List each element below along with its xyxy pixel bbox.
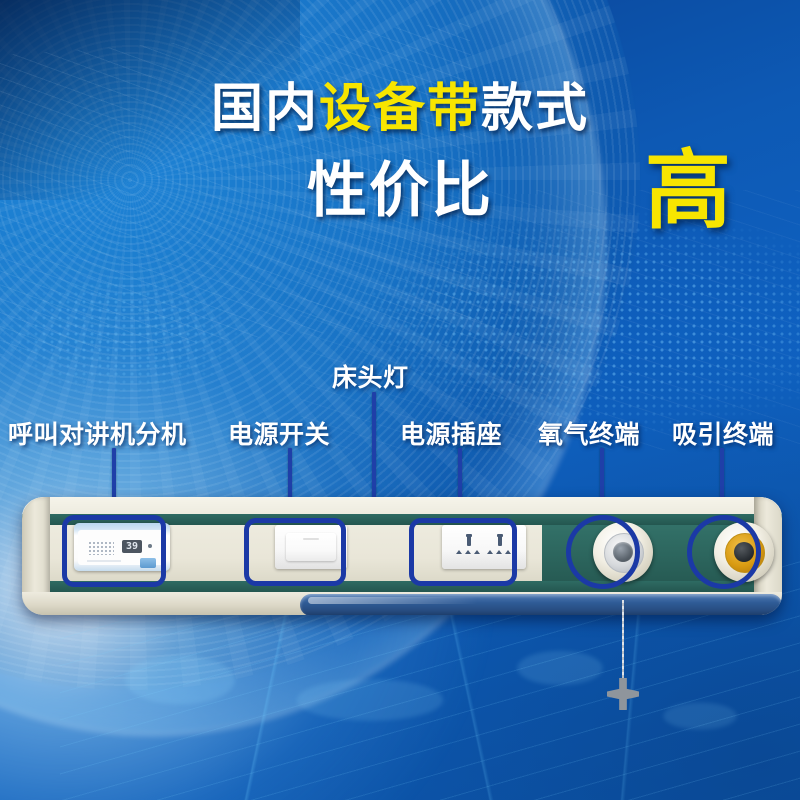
callout-label-power-socket: 电源插座	[400, 415, 502, 451]
callout-label-bed-lamp: 床头灯	[332, 358, 409, 394]
panel-rail-highlight	[308, 597, 478, 604]
callout-label-intercom: 呼叫对讲机分机	[8, 415, 187, 451]
highlight-circle-oxygen	[566, 515, 640, 589]
headline-line-1: 国内设备带款式	[0, 82, 800, 137]
headline-line1-part1: 国内	[211, 80, 319, 138]
headline-line2-text: 性价比	[307, 157, 493, 224]
highlight-box-intercom	[62, 515, 166, 587]
callout-label-power-switch: 电源开关	[228, 415, 330, 451]
headline-line1-part3: 款式	[481, 80, 589, 138]
headline-accent-gao: 高	[645, 148, 731, 234]
headline-line1-accent: 设备带	[319, 80, 481, 138]
highlight-circle-suction	[687, 515, 761, 589]
highlight-box-power-switch	[244, 518, 346, 586]
callout-label-suction: 吸引终端	[672, 415, 774, 451]
callout-label-oxygen: 氧气终端	[538, 415, 640, 451]
promo-banner: 国内设备带款式 性价比 高 呼叫对讲机分机 电源开关 床头灯 电源插座 氧气终端…	[0, 0, 800, 800]
highlight-box-power-socket	[409, 518, 517, 586]
dotted-world-map-left	[0, 250, 300, 420]
pull-cord[interactable]	[622, 600, 624, 684]
grid-lines-overlay	[0, 600, 800, 800]
